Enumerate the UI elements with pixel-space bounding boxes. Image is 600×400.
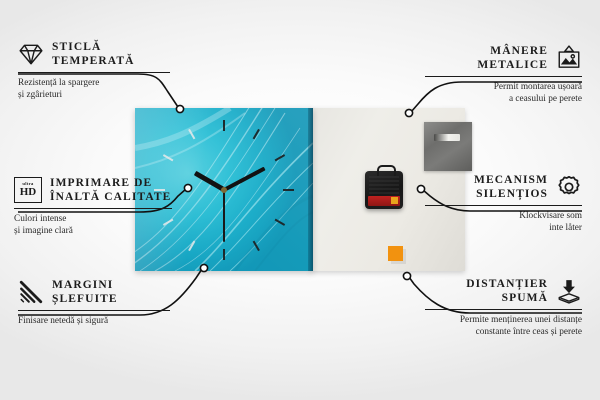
hour-tick bbox=[223, 249, 225, 260]
callout-manere-metalice: MÂNERE METALICE Permit montarea ușoară a… bbox=[425, 44, 582, 105]
callout-subtitle: Culori intense bbox=[14, 213, 179, 225]
mechanism-body-texture bbox=[369, 176, 399, 194]
callout-title: MECANISM bbox=[474, 173, 548, 187]
callout-rule bbox=[425, 309, 582, 310]
connector-endpoint bbox=[403, 272, 410, 279]
hour-tick bbox=[188, 240, 195, 251]
callout-rule bbox=[18, 310, 170, 311]
clock-second-hand bbox=[223, 190, 225, 242]
clock-minute-hand bbox=[223, 166, 265, 191]
hour-tick bbox=[163, 154, 174, 161]
product-illustration bbox=[135, 108, 465, 271]
hour-tick bbox=[223, 120, 225, 131]
hour-tick bbox=[188, 128, 195, 139]
callout-subtitle: Klockvisare som bbox=[425, 210, 582, 222]
callout-subtitle: Finisare netedă și sigură bbox=[18, 315, 178, 327]
mechanism-battery bbox=[368, 196, 400, 206]
ultra-hd-large-label: HD bbox=[20, 187, 37, 198]
callout-title-2: SILENȚIOS bbox=[474, 187, 548, 201]
diamond-icon bbox=[18, 41, 44, 67]
hour-tick bbox=[253, 240, 260, 251]
callout-subtitle-2: și zgârieturi bbox=[18, 89, 178, 101]
callout-title-2: ÎNALTĂ CALITATE bbox=[50, 190, 171, 204]
callout-title: MARGINI bbox=[52, 278, 118, 292]
callout-title: DISTANȚIER bbox=[466, 277, 548, 291]
callout-rule bbox=[425, 205, 582, 206]
callout-margini-slefuite: MARGINI ȘLEFUITE Finisare netedă și sigu… bbox=[18, 278, 178, 327]
callout-sticla-temperata: STICLĂ TEMPERATĂ Rezistență la spargere … bbox=[18, 40, 178, 101]
polished-edges-icon bbox=[18, 279, 44, 305]
callout-subtitle: Rezistență la spargere bbox=[18, 77, 178, 89]
hour-tick bbox=[283, 189, 294, 191]
callout-title-2: ȘLEFUITE bbox=[52, 292, 118, 306]
clock-center-cap bbox=[221, 187, 227, 193]
callout-title-2: SPUMĂ bbox=[466, 291, 548, 305]
callout-title: IMPRIMARE DE bbox=[50, 176, 171, 190]
hour-tick bbox=[275, 218, 286, 225]
callout-subtitle-2: a ceasului pe perete bbox=[425, 93, 582, 105]
callout-rule bbox=[18, 72, 170, 73]
callout-rule bbox=[14, 208, 172, 209]
callout-distantier-spuma: DISTANȚIER SPUMĂ Permite menținerea unei… bbox=[425, 277, 582, 338]
mechanism-hanging-loop bbox=[377, 165, 396, 176]
metal-hanger-plate bbox=[424, 122, 472, 171]
callout-title: STICLĂ bbox=[52, 40, 135, 54]
callout-mecanism-silentios: MECANISM SILENȚIOS Klockvisare som inte … bbox=[425, 173, 582, 234]
callout-imprimare-inalta-calitate: ultra HD IMPRIMARE DE ÎNALTĂ CALITATE Cu… bbox=[14, 176, 179, 237]
callout-title-2: TEMPERATĂ bbox=[52, 54, 135, 68]
gear-icon bbox=[556, 174, 582, 200]
infographic-canvas: STICLĂ TEMPERATĂ Rezistență la spargere … bbox=[0, 0, 600, 400]
callout-subtitle-2: constante între ceas și perete bbox=[425, 326, 582, 338]
callout-title-2: METALICE bbox=[477, 58, 548, 72]
callout-subtitle: Permit montarea ușoară bbox=[425, 81, 582, 93]
picture-hanger-icon bbox=[556, 45, 582, 71]
hour-tick bbox=[275, 154, 286, 161]
foam-spacer-icon bbox=[556, 278, 582, 304]
callout-title: MÂNERE bbox=[477, 44, 548, 58]
ultra-hd-icon: ultra HD bbox=[14, 177, 42, 203]
callout-subtitle-2: și imagine clară bbox=[14, 225, 179, 237]
hanger-slot bbox=[434, 134, 460, 141]
callout-rule bbox=[425, 76, 582, 77]
callout-subtitle-2: inte låter bbox=[425, 222, 582, 234]
hour-tick bbox=[253, 128, 260, 139]
glass-right-edge bbox=[308, 108, 313, 271]
callout-subtitle: Permite menținerea unei distanțe bbox=[425, 314, 582, 326]
silent-movement-mechanism bbox=[365, 171, 403, 209]
battery-terminal bbox=[391, 197, 398, 204]
foam-spacer bbox=[388, 246, 403, 261]
